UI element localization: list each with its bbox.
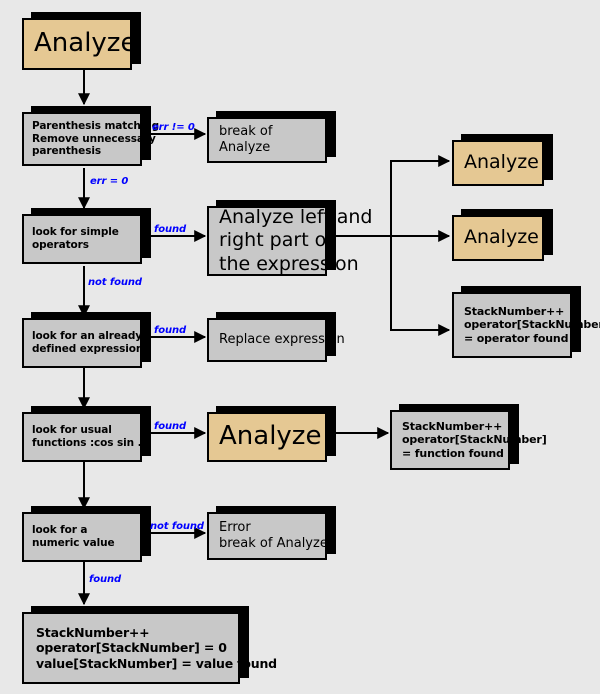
node-label: break of Analyze [219, 124, 325, 156]
edge-label-found-2: found [154, 325, 186, 336]
node-stack-function-found[interactable]: StackNumber++ operator[StackNumber] = fu… [390, 410, 510, 470]
edge-label-err-zero: err = 0 [90, 176, 128, 187]
node-label: look for an already defined expression [32, 330, 140, 356]
node-analyze-branch-1[interactable]: Analyze [452, 140, 544, 186]
node-label: StackNumber++ operator[StackNumber] = op… [464, 305, 570, 345]
node-label: StackNumber++ operator[StackNumber] = fu… [402, 420, 508, 460]
edge-label-err-not-zero: err != 0 [152, 122, 195, 133]
node-label: look for usual functions :cos sin .. [32, 424, 140, 450]
node-simple-operators[interactable]: look for simple operators [22, 214, 142, 264]
node-label: look for simple operators [32, 226, 140, 252]
node-label: Replace expression [219, 332, 325, 348]
edge-label-found-3: found [154, 421, 186, 432]
node-label: Parenthesis matching Remove unnecessary … [32, 120, 140, 158]
edge-label-not-found-1: not found [88, 277, 142, 288]
node-stack-operator-found[interactable]: StackNumber++ operator[StackNumber] = op… [452, 292, 572, 358]
node-label: Analyze [464, 226, 542, 249]
node-analyze-left-right[interactable]: Analyze left and right part of the expre… [207, 206, 327, 276]
node-defined-expression[interactable]: look for an already defined expression [22, 318, 142, 368]
node-label: StackNumber++ operator[StackNumber] = 0 … [36, 625, 238, 671]
edge-label-found-1: found [154, 224, 186, 235]
node-parenthesis-matching[interactable]: Parenthesis matching Remove unnecessary … [22, 112, 142, 166]
node-start-analyze[interactable]: Analyze [22, 18, 132, 70]
node-analyze-branch-2[interactable]: Analyze [452, 215, 544, 261]
node-break-analyze[interactable]: break of Analyze [207, 117, 327, 163]
edge-label-found-4: found [89, 574, 121, 585]
node-usual-functions[interactable]: look for usual functions :cos sin .. [22, 412, 142, 462]
node-stack-value-found[interactable]: StackNumber++ operator[StackNumber] = 0 … [22, 612, 240, 684]
node-replace-expression[interactable]: Replace expression [207, 318, 327, 362]
node-error-break[interactable]: Error break of Analyze [207, 512, 327, 560]
node-label: look for a numeric value [32, 524, 140, 550]
node-label: Analyze [219, 421, 325, 453]
node-analyze-function[interactable]: Analyze [207, 412, 327, 462]
node-numeric-value[interactable]: look for a numeric value [22, 512, 142, 562]
node-label: Analyze [34, 28, 130, 60]
flowchart-canvas: Analyze Parenthesis matching Remove unne… [0, 0, 600, 694]
edge-label-not-found-2: not found [150, 521, 204, 532]
node-label: Analyze left and right part of the expre… [219, 206, 325, 276]
node-label: Error break of Analyze [219, 520, 325, 552]
node-label: Analyze [464, 151, 542, 174]
